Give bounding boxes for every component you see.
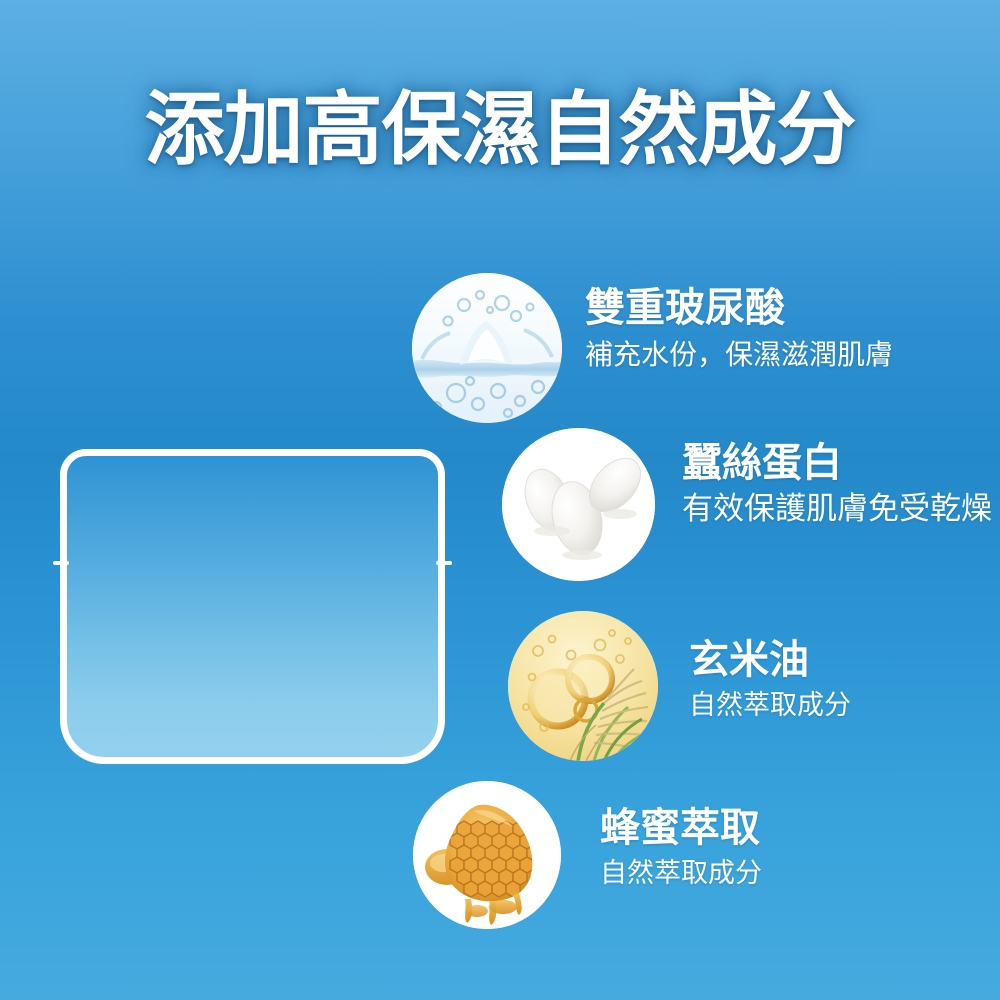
- ingredient-4-title: 蜂蜜萃取: [600, 808, 762, 848]
- sachet-tear-notch-right: [436, 561, 452, 565]
- ingredient-3-text: 玄米油 自然萃取成分: [689, 640, 851, 719]
- silk-cocoon-icon: [502, 428, 655, 581]
- ingredient-4-subtitle: 自然萃取成分: [600, 860, 762, 887]
- ingredient-1-text: 雙重玻尿酸 補充水份，保濕滋潤肌膚: [585, 288, 893, 369]
- ingredient-infographic-poster: 添加高保濕自然成分: [0, 0, 1000, 1000]
- product-sachet-outline: [60, 449, 445, 764]
- page-title: 添加高保濕自然成分: [0, 86, 1000, 174]
- ingredient-2-subtitle: 有效保護肌膚免受乾燥: [682, 494, 992, 525]
- ingredient-3-subtitle: 自然萃取成分: [689, 692, 851, 719]
- ingredient-1-subtitle: 補充水份，保濕滋潤肌膚: [585, 341, 893, 369]
- ingredient-4-text: 蜂蜜萃取 自然萃取成分: [600, 808, 762, 887]
- sachet-tear-notch-left: [53, 561, 69, 565]
- ingredient-2-title: 蠶絲蛋白: [682, 443, 992, 483]
- ingredient-2-text: 蠶絲蛋白 有效保護肌膚免受乾燥: [682, 443, 992, 525]
- rice-bran-oil-icon: [508, 611, 658, 761]
- ingredient-1-title: 雙重玻尿酸: [585, 288, 893, 328]
- honeycomb-icon: [413, 781, 561, 929]
- water-splash-icon: [412, 273, 562, 423]
- ingredient-3-title: 玄米油: [689, 640, 851, 680]
